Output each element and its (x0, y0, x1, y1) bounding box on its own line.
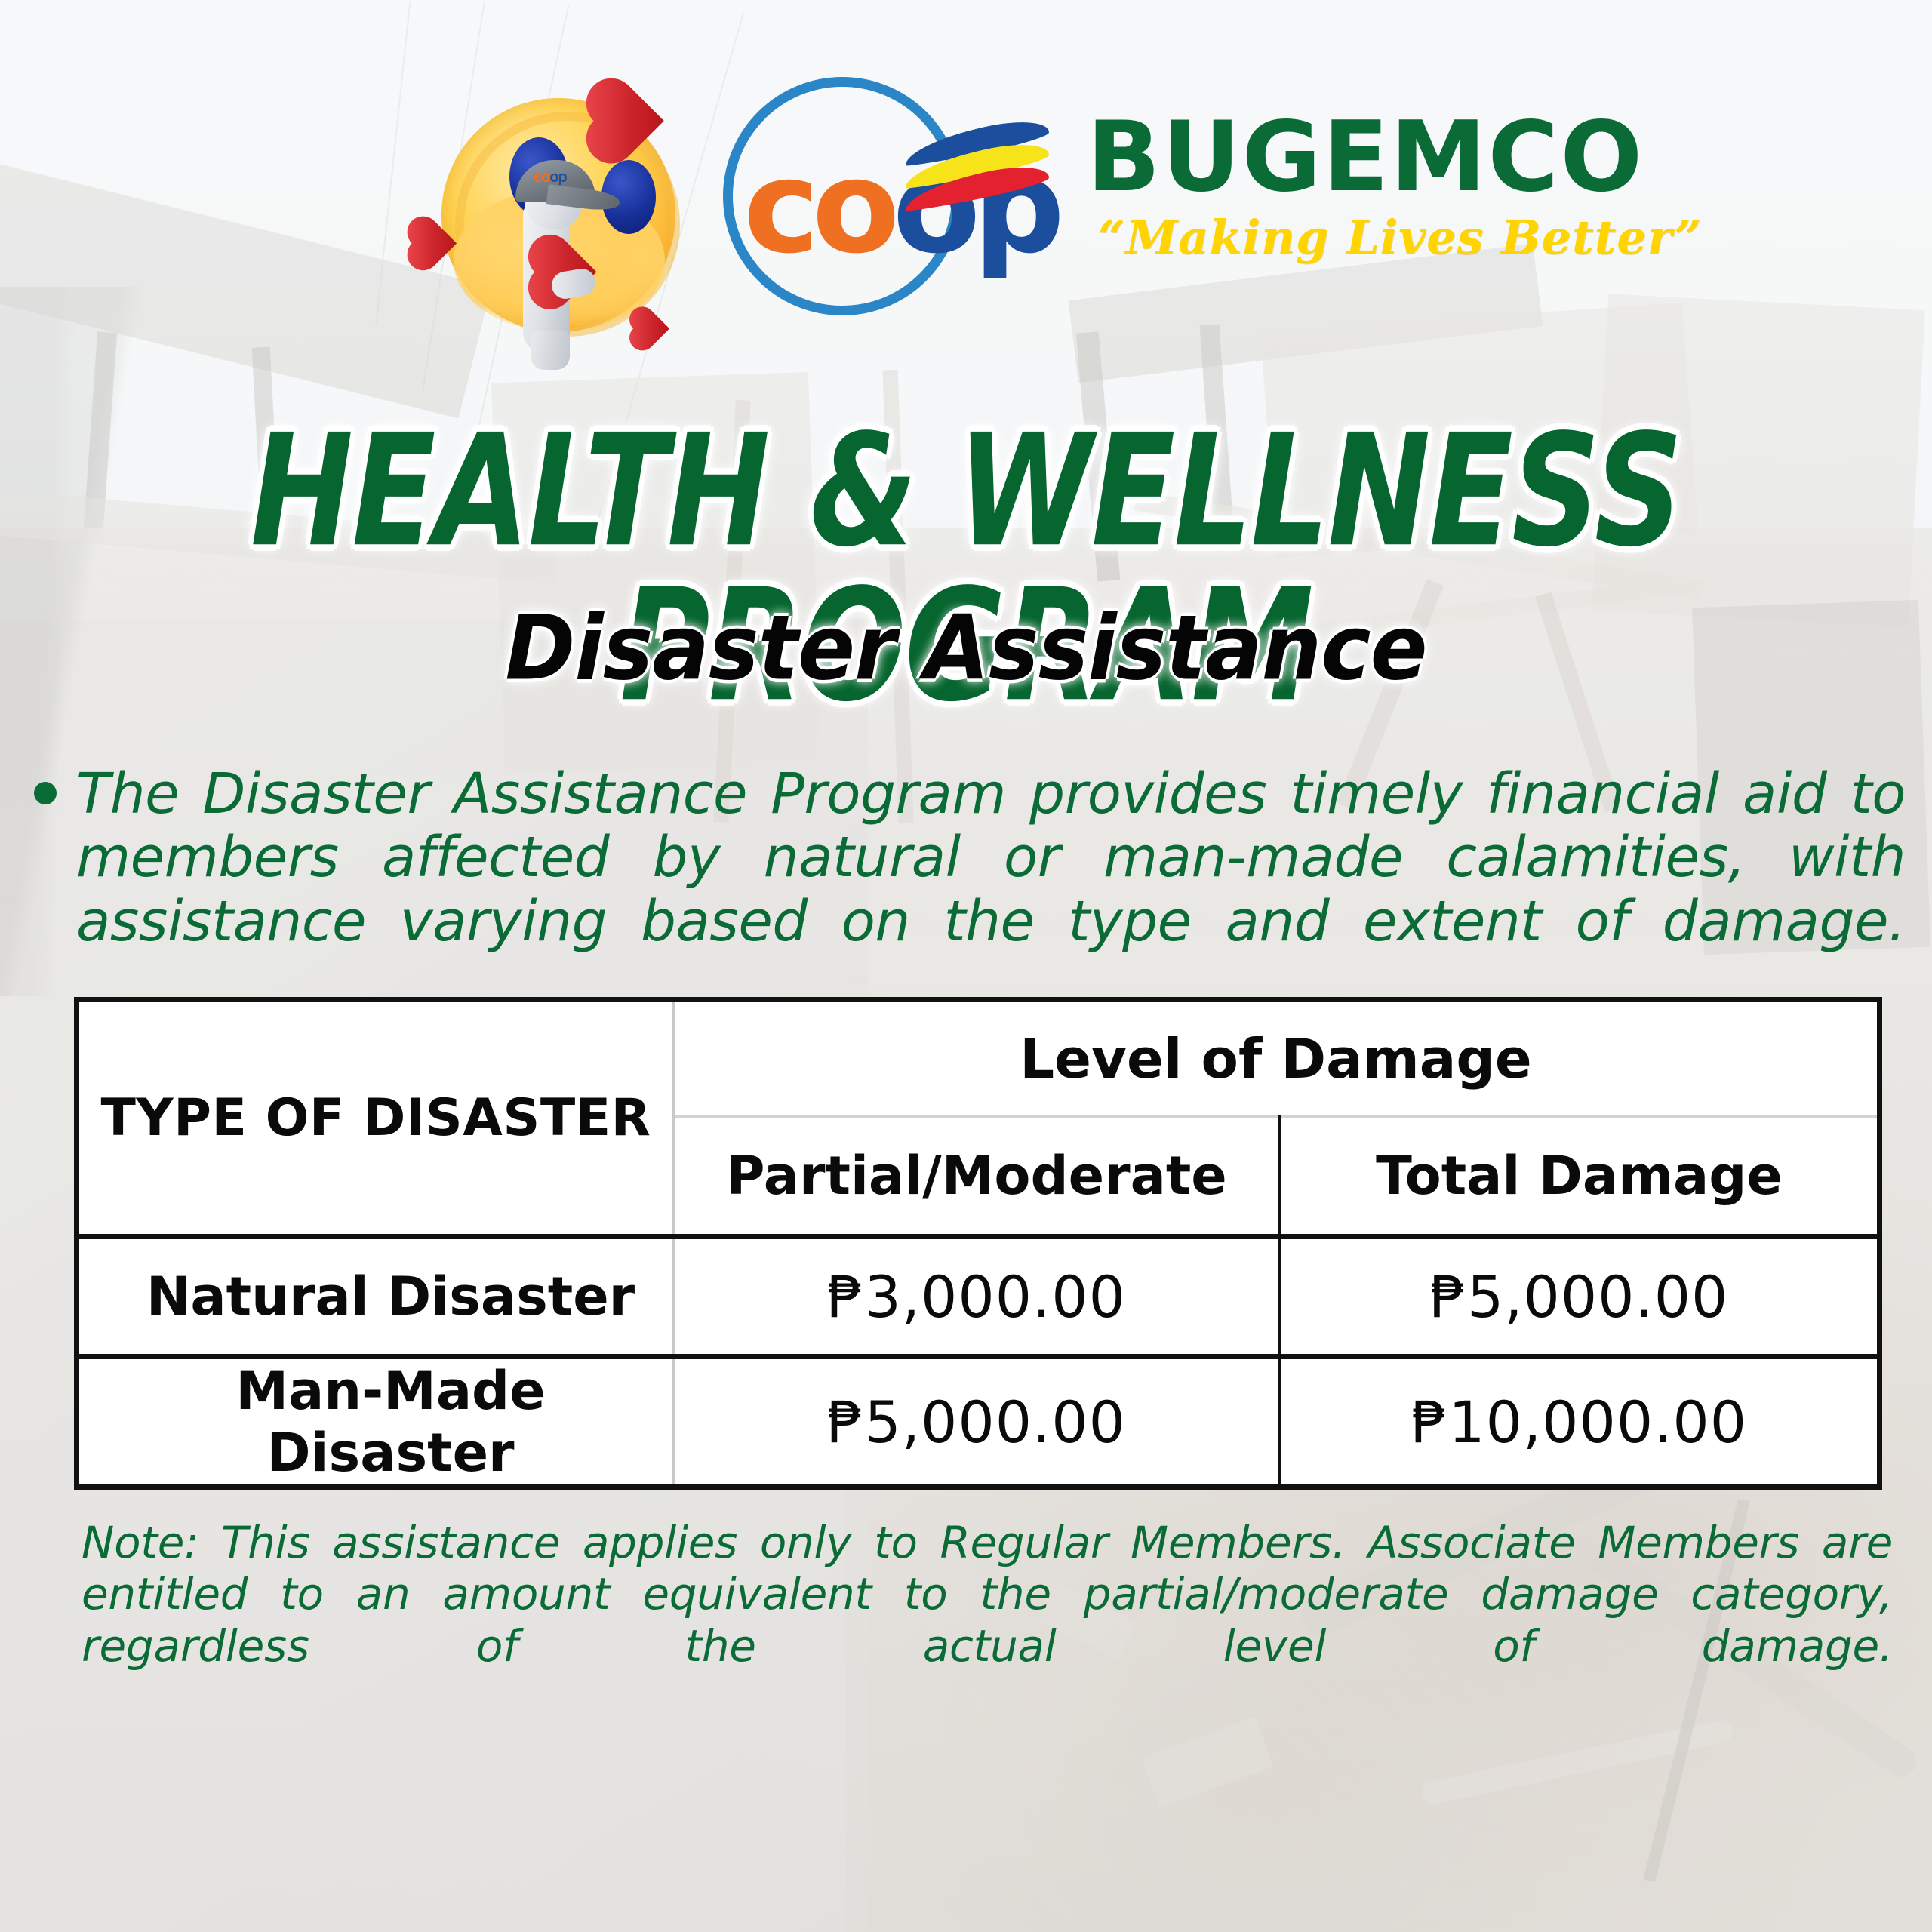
mascot-logo: coop (419, 68, 698, 370)
footnote: Note: This assistance applies only to Re… (82, 1517, 1893, 1724)
poster-canvas: coop coop BUGEMCO “Making Lives Better” … (0, 0, 1932, 1932)
mascot-legs (531, 331, 570, 370)
coop-wordmark-co: co (743, 133, 893, 282)
table-row: Natural Disaster ₱3,000.00 ₱5,000.00 (79, 1237, 1877, 1357)
cap-coop-logo: coop (534, 169, 567, 186)
col-header-total-damage: Total Damage (1280, 1117, 1877, 1237)
program-description: The Disaster Assistance Program provides… (34, 762, 1906, 1017)
cap-logo-op: op (549, 169, 566, 186)
coop-flag-icon (906, 128, 1049, 217)
row-label-man-made-disaster: Man-Made Disaster (79, 1357, 674, 1485)
brand-name: BUGEMCO (1087, 109, 1644, 206)
bullet-dot-icon (34, 782, 57, 804)
brand-tagline: “Making Lives Better” (1098, 210, 1702, 265)
cell-natural-total: ₱5,000.00 (1280, 1237, 1877, 1357)
col-header-type-of-disaster: TYPE OF DISASTER (79, 1002, 674, 1237)
col-header-level-of-damage: Level of Damage (674, 1002, 1877, 1117)
cell-natural-partial: ₱3,000.00 (674, 1237, 1281, 1357)
cell-manmade-partial: ₱5,000.00 (674, 1357, 1281, 1485)
cap-logo-co: co (534, 169, 549, 186)
row-label-natural-disaster: Natural Disaster (79, 1237, 674, 1357)
page-subtitle: Disaster Assistance (0, 604, 1932, 694)
assistance-table: TYPE OF DISASTER Level of Damage Partial… (79, 1002, 1877, 1484)
col-header-partial-moderate: Partial/Moderate (674, 1117, 1281, 1237)
table-row: Man-Made Disaster ₱5,000.00 ₱10,000.00 (79, 1357, 1877, 1485)
brand-header: coop coop BUGEMCO “Making Lives Better” (0, 30, 1932, 294)
cell-manmade-total: ₱10,000.00 (1280, 1357, 1877, 1485)
table-header-row-group: TYPE OF DISASTER Level of Damage (79, 1002, 1877, 1117)
program-description-text: The Disaster Assistance Program provides… (76, 762, 1906, 1017)
